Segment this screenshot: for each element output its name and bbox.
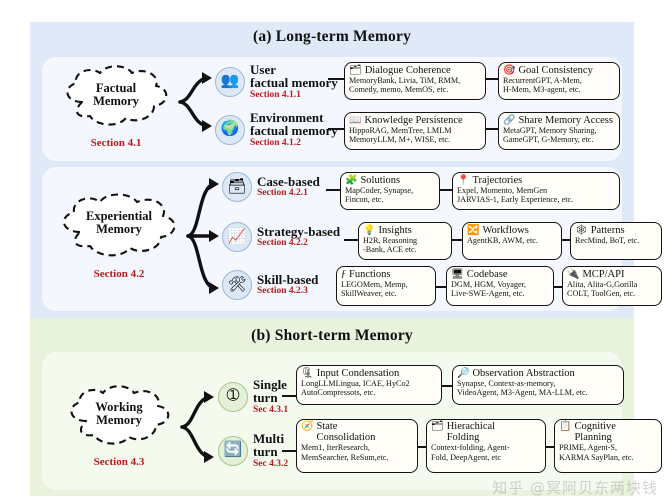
puzzle-icon: 🧩	[345, 176, 357, 186]
box-title: Codebase	[467, 269, 508, 280]
box-workflows[interactable]: 🔀 Workflows AgentKB, AWM, etc.	[462, 222, 562, 260]
compress-icon: 🗜	[301, 369, 314, 379]
connector	[442, 385, 452, 387]
box-hierachical-folding[interactable]: 🗂 Hierachical Folding Context-folding, A…	[426, 419, 546, 473]
connector	[326, 189, 340, 191]
box-body: LongLLMLingua, ICAE, HyCo2 AutoCompresso…	[301, 379, 437, 397]
working-cloud-line1: Working	[95, 400, 142, 414]
box-body: PRIME, Agent-S, KARMA SayPlan, etc.	[559, 443, 657, 461]
multi-turn-icon: 🔄	[218, 436, 248, 466]
box-insights[interactable]: 💡 Insights H2R, Reasoning -Bank, ACE etc…	[358, 222, 452, 260]
flowchart-icon: 🔀	[467, 226, 479, 236]
folding-icon: 🗂	[431, 422, 444, 432]
code-window-icon: 🖥	[451, 270, 464, 280]
long-term-memory-title: (a) Long-term Memory	[0, 28, 664, 46]
box-share-memory-access[interactable]: 🔗 Share Memory Access MetaGPT, Memory Sh…	[498, 112, 620, 150]
plan-icon: 📋	[559, 422, 571, 432]
box-cognitive-planning[interactable]: 📋 Cognitive Planning PRIME, Agent-S, KAR…	[554, 419, 662, 473]
box-title: Workflows	[482, 225, 528, 236]
connector	[418, 446, 426, 448]
box-body: LEGOMem, Memp, SkillWeaver, etc.	[341, 280, 431, 298]
working-memory-section: Section 4.3	[56, 456, 182, 468]
connector	[486, 78, 498, 80]
network-icon: 🕸	[575, 226, 588, 236]
branch-section: Section 4.2.1	[257, 189, 320, 199]
box-title: Knowledge Persistence	[364, 115, 462, 126]
connector	[546, 446, 554, 448]
branch-environment-factual-memory[interactable]: 🌍 Environment factual memory Section 4.1…	[215, 111, 338, 148]
connector	[452, 239, 462, 241]
box-body: HippoRAG, MemTree, LMLM MemoryLLM, M+, W…	[349, 126, 481, 144]
connector	[554, 286, 562, 288]
box-dialogue-coherence[interactable]: 🗂 Dialogue Coherence MemoryBank, Livia, …	[344, 62, 486, 100]
box-title: Insights	[378, 225, 411, 236]
tools-pencil-icon: 🛠	[222, 270, 252, 300]
box-functions[interactable]: ƒ Functions LEGOMem, Memp, SkillWeaver, …	[336, 266, 436, 306]
box-title: Trajectories	[472, 175, 522, 186]
branch-title: Case-based	[257, 175, 320, 188]
connector	[328, 128, 344, 130]
target-icon: 🎯	[503, 66, 515, 76]
experiential-cloud-line2: Memory	[96, 222, 142, 236]
box-title: Functions	[349, 269, 390, 280]
people-icon: 👥	[215, 67, 245, 97]
box-observation-abstraction[interactable]: 🔎 Observation Abstraction Synapse, Conte…	[452, 365, 624, 405]
box-codebase[interactable]: 🖥 Codebase DGM, HGM, Voyager, Live-SWE-A…	[446, 266, 554, 306]
box-title: Goal Consistency	[518, 65, 592, 76]
box-title: Solutions	[360, 175, 400, 186]
factual-memory-cloud: Factual Memory	[52, 62, 180, 136]
box-body: Expel, Momento, MemGen JARVIAS-1, Early …	[457, 186, 615, 204]
lightbulb-icon: 💡	[363, 226, 375, 236]
connector	[436, 286, 446, 288]
branch-skill-based[interactable]: 🛠 Skill-based Section 4.2.3	[222, 270, 318, 300]
branch-multi-turn[interactable]: 🔄 Multi turn Sec 4.3.2	[218, 432, 288, 469]
box-body: MemoryBank, Livia, TiM, RMM, Comedy, mem…	[349, 76, 481, 94]
box-trajectories[interactable]: 📍 Trajectories Expel, Momento, MemGen JA…	[452, 172, 620, 210]
globe-icon: 🌍	[215, 115, 245, 145]
branch-section: Sec 4.3.2	[253, 460, 288, 470]
box-state-consolidation[interactable]: 🧭 State Consolidation Mem1, IterResearch…	[296, 419, 418, 473]
factual-cloud-line2: Memory	[93, 94, 139, 108]
box-title: Observation Abstraction	[472, 368, 574, 379]
box-solutions[interactable]: 🧩 Solutions MapCoder, Synapse, Fincon, e…	[340, 172, 440, 210]
box-body: RecurrentGPT, A-Mem, H-Mem, M3-agent, et…	[503, 76, 615, 94]
connector	[328, 78, 344, 80]
plug-icon: 🔌	[567, 270, 579, 280]
box-input-condensation[interactable]: 🗜 Input Condensation LongLLMLingua, ICAE…	[296, 365, 442, 405]
share-icon: 🔗	[503, 116, 515, 126]
branch-section: Sec 4.3.1	[253, 406, 288, 416]
box-goal-consistency[interactable]: 🎯 Goal Consistency RecurrentGPT, A-Mem, …	[498, 62, 620, 100]
connector	[486, 128, 498, 130]
box-title: State Consolidation	[316, 422, 375, 443]
branch-single-turn[interactable]: ➀ Single turn Sec 4.3.1	[218, 378, 288, 415]
box-mcp-api[interactable]: 🔌 MCP/API Alita, Alita-G,Gorilla COLT, T…	[562, 266, 662, 306]
branch-title: Multi turn	[253, 432, 288, 459]
experiential-cloud-line1: Experiential	[86, 209, 152, 223]
connector	[440, 189, 452, 191]
box-body: Synapse, Context-as-memory, VideoAgent, …	[457, 379, 619, 397]
experiential-memory-cloud: Experiential Memory	[48, 190, 190, 266]
box-body: Mem1, IterResearch, MemSearcher, ReSum,e…	[301, 443, 413, 461]
box-title: Dialogue Coherence	[365, 65, 451, 76]
single-turn-icon: ➀	[218, 382, 248, 412]
book-icon: 📖	[349, 116, 361, 126]
box-title: Patterns	[591, 225, 625, 236]
box-body: RecMind, BoT, etc.	[575, 236, 657, 245]
experiential-memory-section: Section 4.2	[48, 268, 190, 280]
connector	[282, 395, 296, 397]
connector	[282, 450, 296, 452]
branch-case-based[interactable]: 🗃 Case-based Section 4.2.1	[222, 172, 320, 202]
box-title: Hierachical Folding	[447, 422, 495, 443]
box-title: Share Memory Access	[518, 115, 612, 126]
working-memory-cloud: Working Memory	[56, 382, 182, 454]
branch-title: Environment factual memory	[250, 111, 338, 138]
diagram-root: (a) Long-term Memory Factual Memory Sect…	[0, 0, 664, 500]
experiential-branch-arrows	[186, 174, 226, 300]
box-body: DGM, HGM, Voyager, Live-SWE-Agent, etc.	[451, 280, 549, 298]
box-body: Context-folding, Agent- Fold, DeepAgent,…	[431, 443, 541, 461]
branch-title: Single turn	[253, 378, 288, 405]
case-file-icon: 🗃	[222, 172, 252, 202]
box-body: AgentKB, AWM, etc.	[467, 236, 557, 245]
branch-title: User factual memory	[250, 63, 338, 90]
box-body: H2R, Reasoning -Bank, ACE etc.	[363, 236, 447, 254]
factual-memory-section: Section 4.1	[52, 137, 180, 149]
observer-icon: 🔎	[457, 369, 469, 379]
box-title: MCP/API	[582, 269, 624, 280]
working-branch-arrows	[180, 384, 222, 470]
box-body: MapCoder, Synapse, Fincon, etc.	[345, 186, 435, 204]
box-body: MetaGPT, Memory Sharing, GameGPT, G-Memo…	[503, 126, 615, 144]
box-knowledge-persistence[interactable]: 📖 Knowledge Persistence HippoRAG, MemTre…	[344, 112, 486, 150]
branch-title: Skill-based	[257, 273, 318, 286]
connector	[344, 239, 358, 241]
factual-branch-arrows	[178, 66, 220, 138]
pin-icon: 📍	[457, 176, 469, 186]
branch-section: Section 4.2.2	[257, 239, 340, 249]
function-icon: ƒ	[341, 270, 346, 280]
branch-strategy-based[interactable]: 📈 Strategy-based Section 4.2.2	[222, 222, 340, 252]
box-body: Alita, Alita-G,Gorilla COLT, ToolGen, et…	[567, 280, 657, 298]
factual-cloud-line1: Factual	[96, 81, 136, 95]
connector	[562, 239, 570, 241]
box-title: Cognitive Planning	[574, 422, 615, 443]
branch-section: Section 4.1.1	[250, 91, 338, 101]
working-cloud-line2: Memory	[96, 413, 142, 427]
chat-bubbles-icon: 🗂	[349, 66, 362, 76]
branch-section: Section 4.2.3	[257, 287, 318, 297]
branch-user-factual-memory[interactable]: 👥 User factual memory Section 4.1.1	[215, 63, 338, 100]
box-title: Input Condensation	[317, 368, 400, 379]
branch-title: Strategy-based	[257, 225, 340, 238]
chart-idea-icon: 📈	[222, 222, 252, 252]
state-icon: 🧭	[301, 422, 313, 432]
box-patterns[interactable]: 🕸 Patterns RecMind, BoT, etc.	[570, 222, 662, 260]
branch-section: Section 4.1.2	[250, 139, 338, 149]
short-term-memory-title: (b) Short-term Memory	[0, 327, 664, 345]
